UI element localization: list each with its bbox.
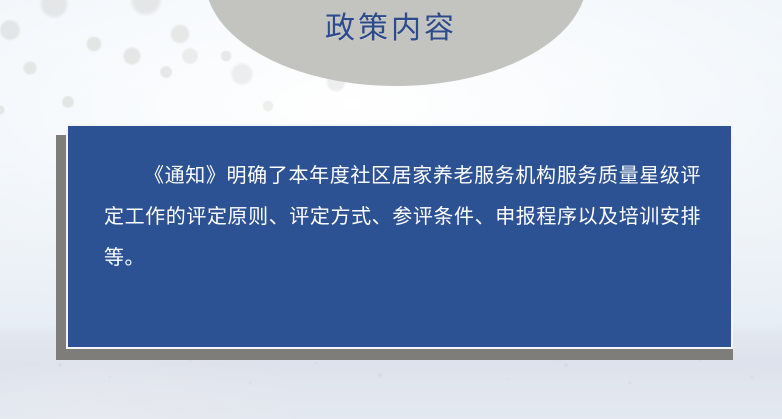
- page-title: 政策内容: [0, 3, 782, 47]
- policy-body-text: 《通知》明确了本年度社区居家养老服务机构服务质量星级评定工作的评定原则、评定方式…: [104, 156, 701, 279]
- card-panel: 《通知》明确了本年度社区居家养老服务机构服务质量星级评定工作的评定原则、评定方式…: [66, 124, 733, 349]
- content-card: 《通知》明确了本年度社区居家养老服务机构服务质量星级评定工作的评定原则、评定方式…: [56, 124, 733, 360]
- slide-root: 政策内容 《通知》明确了本年度社区居家养老服务机构服务质量星级评定工作的评定原则…: [0, 0, 782, 419]
